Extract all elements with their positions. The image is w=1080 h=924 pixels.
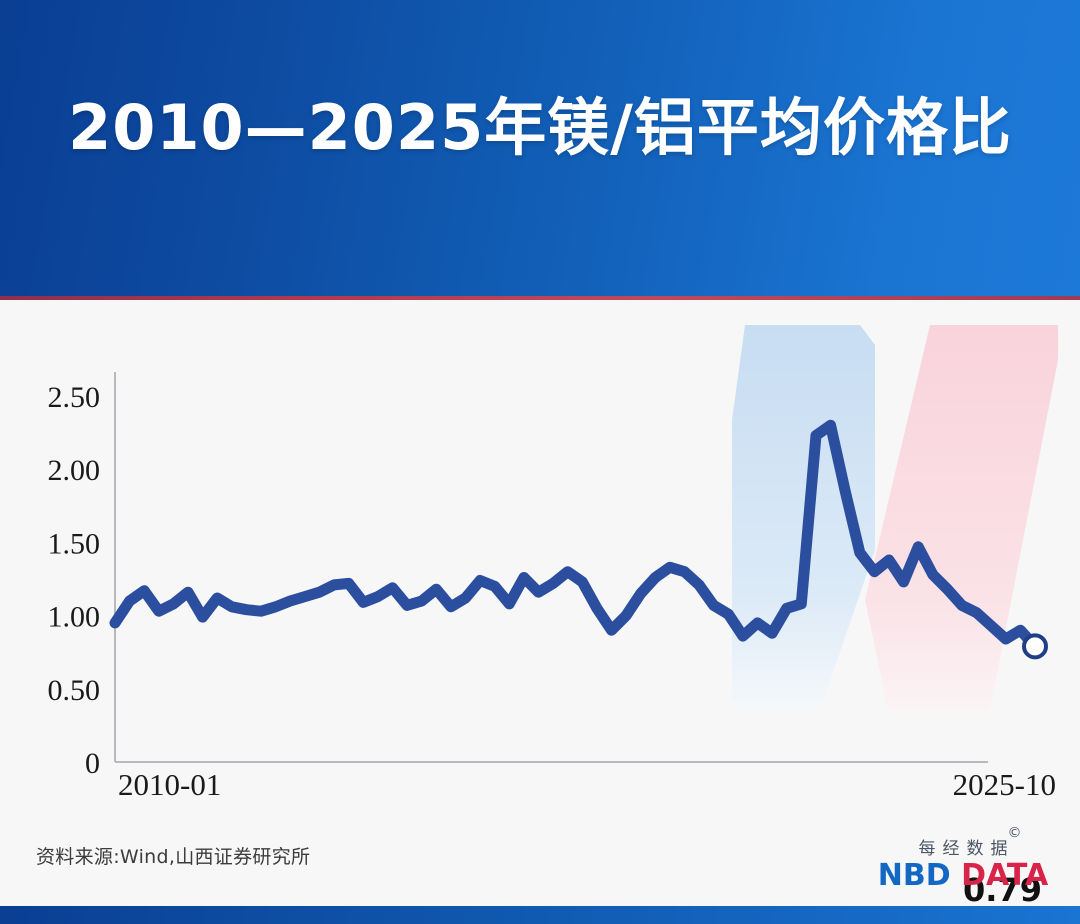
- page-title: 2010—2025年镁/铝平均价格比: [0, 92, 1080, 163]
- y-axis-tick-label: 0: [85, 747, 100, 780]
- y-axis-tick-label: 2.50: [48, 381, 101, 414]
- y-axis-tick-label: 2.00: [48, 454, 101, 487]
- y-axis-tick-labels: 00.501.001.502.002.50: [48, 381, 101, 780]
- logo-nbd-text: NBD: [878, 858, 951, 893]
- logo-chinese-text: 每经数据©: [912, 834, 1015, 859]
- nbd-logo: 每经数据© NBD DATA: [868, 834, 1058, 892]
- end-point-marker: [1024, 635, 1046, 657]
- source-note: 资料来源:Wind,山西证券研究所: [36, 842, 310, 869]
- y-axis-tick-label: 1.50: [48, 527, 101, 560]
- chart-container: 00.501.001.502.002.50 0.79 2010-01 2025-…: [0, 300, 1080, 820]
- price-ratio-line: [115, 425, 1035, 646]
- y-axis-tick-label: 1.00: [48, 601, 101, 634]
- x-axis-start-label: 2010-01: [118, 767, 221, 803]
- logo-data-text: DATA: [961, 858, 1048, 893]
- copyright-icon: ©: [1008, 825, 1022, 841]
- y-axis-tick-label: 0.50: [48, 674, 101, 707]
- x-axis-end-label: 2025-10: [953, 767, 1056, 803]
- bottom-accent-bar: [0, 906, 1080, 924]
- infographic-page: 2010—2025年镁/铝平均价格比: [0, 0, 1080, 924]
- logo-wordmark: NBD DATA: [868, 860, 1058, 892]
- logo-cn-label: 每经数据: [919, 839, 1015, 859]
